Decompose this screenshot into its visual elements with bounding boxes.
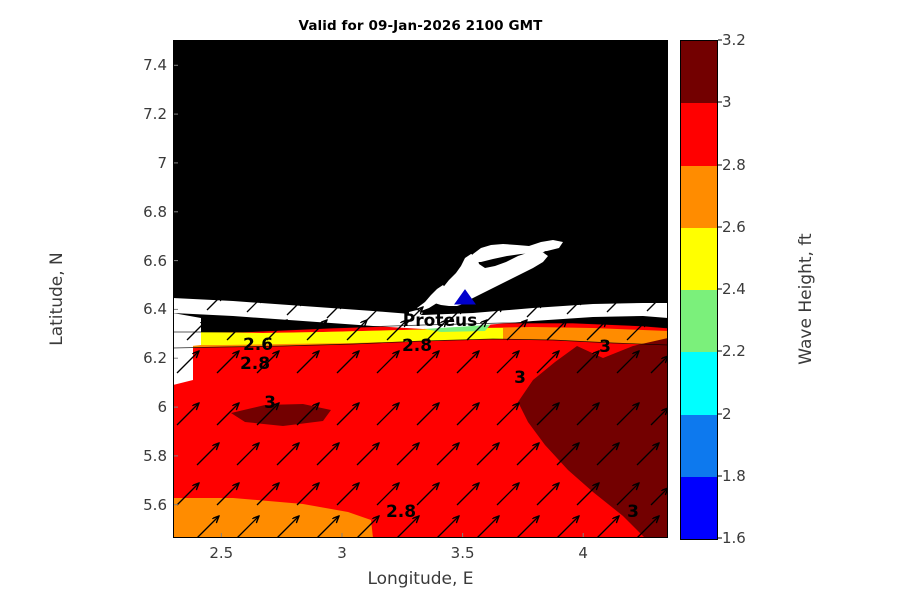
contour-label-3-southeast: 3: [627, 502, 639, 522]
cb-tick-2p6: 2.6: [722, 218, 746, 236]
cb-band-2p2-2p4: [681, 290, 717, 352]
ytick-6p2: 6.2: [143, 349, 167, 367]
ytick-7p4: 7.4: [143, 56, 167, 74]
contour-label-3-east: 3: [514, 368, 526, 388]
x-axis-ticks: 2.5 3 3.5 4: [173, 544, 668, 566]
ytick-7: 7: [157, 154, 167, 172]
colorbar-label: Wave Height, ft: [796, 199, 816, 399]
station-label-proteus: Proteus: [403, 311, 477, 331]
contour-label-2p8-center: 2.8: [402, 336, 432, 356]
contour-label-2p8-south: 2.8: [386, 502, 416, 522]
cb-band-3p0-3p2: [681, 41, 717, 103]
contour-label-2p6-west: 2.6: [243, 335, 273, 355]
y-axis-ticks: 5.6 5.8 6 6.2 6.4 6.6 6.8 7 7.2 7.4: [103, 40, 167, 538]
cb-tick-3: 3: [722, 93, 732, 111]
page-title: Valid for 09-Jan-2026 2100 GMT: [173, 18, 668, 34]
cb-tick-2p2: 2.2: [722, 342, 746, 360]
y-axis-label: Latitude, N: [47, 199, 67, 399]
cb-band-1p8-2p0: [681, 415, 717, 477]
cb-band-2p0-2p2: [681, 352, 717, 414]
wave-height-figure: Valid for 09-Jan-2026 2100 GMT: [0, 0, 900, 600]
contour-label-3-northeast: 3: [599, 337, 611, 357]
ytick-6p8: 6.8: [143, 203, 167, 221]
ytick-5p6: 5.6: [143, 496, 167, 514]
contour-label-3-patch: 3: [264, 393, 276, 413]
cb-band-2p6-2p8: [681, 166, 717, 228]
wave-height-map: [173, 40, 668, 538]
cb-band-1p6-1p8: [681, 477, 717, 539]
ytick-7p2: 7.2: [143, 105, 167, 123]
x-axis-label: Longitude, E: [173, 569, 668, 589]
cb-band-2p8-3p0: [681, 103, 717, 165]
xtick-4: 4: [578, 544, 588, 562]
contour-label-2p8-west: 2.8: [240, 354, 270, 374]
ytick-6p6: 6.6: [143, 252, 167, 270]
ytick-6p4: 6.4: [143, 300, 167, 318]
xtick-2p5: 2.5: [209, 544, 233, 562]
land-mass: [173, 40, 668, 309]
cb-tick-1p6: 1.6: [722, 529, 746, 547]
xtick-3p5: 3.5: [451, 544, 475, 562]
ytick-5p8: 5.8: [143, 447, 167, 465]
coast-white-wedge-left2: [173, 330, 193, 385]
cb-band-2p4-2p6: [681, 228, 717, 290]
xtick-3: 3: [337, 544, 347, 562]
colorbar-ticks: 1.6 1.8 2 2.2 2.4 2.6 2.8 3 3.2: [718, 40, 778, 540]
map-plot-area[interactable]: 2.6 2.8 2.8 3 3 3 2.8 3 Proteus: [173, 40, 668, 538]
colorbar[interactable]: [680, 40, 718, 540]
cb-tick-2p8: 2.8: [722, 156, 746, 174]
cb-tick-1p8: 1.8: [722, 467, 746, 485]
cb-tick-3p2: 3.2: [722, 31, 746, 49]
cb-tick-2: 2: [722, 405, 732, 423]
cb-tick-2p4: 2.4: [722, 280, 746, 298]
ytick-6: 6: [157, 398, 167, 416]
